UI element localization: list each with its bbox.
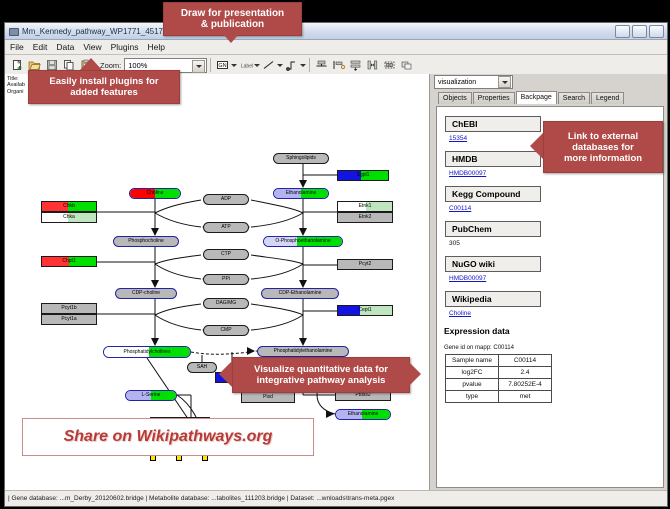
- db-link-wikipedia[interactable]: Choline: [449, 310, 663, 317]
- node-label: Pisd: [263, 395, 273, 400]
- callout-visualize-arrow: [219, 361, 232, 387]
- expression-table: Sample name C00114 log2FC 2.4 pvalue 7.8…: [445, 354, 552, 403]
- svg-text:Label: Label: [241, 64, 253, 70]
- callout-draw-arrow: [222, 33, 240, 43]
- expr-value: 2.4: [499, 367, 552, 379]
- node-ppi[interactable]: PPi: [203, 274, 249, 285]
- zoom-label: Zoom:: [100, 61, 121, 70]
- node-sah[interactable]: SAH: [187, 362, 217, 373]
- toolbar-separator: [309, 58, 310, 72]
- status-text: | Gene database: ...m_Derby_20120602.bri…: [8, 495, 394, 502]
- expr-key: pvalue: [446, 379, 499, 391]
- callout-visualize: Visualize quantitative data for integrat…: [232, 357, 410, 393]
- distribute-icon[interactable]: [364, 57, 381, 73]
- visualization-select[interactable]: visualization: [434, 75, 513, 89]
- callout-plugins: Easily install plugins for added feature…: [28, 70, 180, 104]
- menu-data[interactable]: Data: [56, 42, 74, 52]
- node-label: Etnk2: [359, 215, 372, 220]
- node-ctp[interactable]: CTP: [203, 249, 249, 260]
- menu-edit[interactable]: Edit: [33, 42, 48, 52]
- callout-draw: Draw for presentation & publication: [163, 2, 302, 36]
- node-choline-top[interactable]: Choline: [129, 188, 181, 199]
- node-label: Ptdss2: [355, 393, 370, 398]
- db-name-wikipedia: Wikipedia: [445, 291, 541, 307]
- node-label: Chkb: [63, 204, 75, 209]
- db-value-pubchem: 305: [449, 240, 663, 247]
- app-icon: [8, 26, 18, 36]
- datanode-icon[interactable]: GN: [214, 57, 231, 73]
- callout-visualize-arrow-right: [408, 361, 421, 387]
- menu-view[interactable]: View: [83, 42, 101, 52]
- node-label: Chka: [63, 215, 75, 220]
- node-dag-mg[interactable]: DAG/MG: [203, 298, 249, 309]
- node-label: PPi: [222, 277, 230, 282]
- node-l-serine-left[interactable]: L-Serine: [125, 390, 177, 401]
- callout-links-line1: Link to external: [568, 131, 638, 142]
- gene-chkb[interactable]: Chkb: [41, 201, 97, 212]
- toolbar-separator: [210, 58, 211, 72]
- datanode-dropdown[interactable]: GN: [214, 57, 237, 73]
- gene-sgpl1[interactable]: Sgpl1: [337, 170, 389, 181]
- callout-share-text: Share on Wikipathways.org: [64, 428, 273, 446]
- expr-key: log2FC: [446, 367, 499, 379]
- callout-plugins-arrow: [80, 58, 102, 70]
- line-dropdown[interactable]: [260, 57, 283, 73]
- label-icon[interactable]: Label: [237, 57, 254, 73]
- node-label: DAG/MG: [216, 301, 236, 306]
- menu-plugins[interactable]: Plugins: [111, 42, 139, 52]
- gene-etnk1[interactable]: Etnk1: [337, 201, 393, 212]
- chevron-down-icon[interactable]: [300, 64, 306, 67]
- db-link-kegg[interactable]: C00114: [449, 205, 663, 212]
- menu-help[interactable]: Help: [148, 42, 165, 52]
- node-phosphocholine[interactable]: Phosphocholine: [113, 236, 179, 247]
- expr-value: C00114: [499, 355, 552, 367]
- tab-backpage[interactable]: Backpage: [516, 91, 557, 104]
- gene-chpt1[interactable]: Chpt1: [41, 256, 97, 267]
- tab-properties[interactable]: Properties: [473, 92, 515, 104]
- node-label: Ethanolamine: [348, 412, 379, 417]
- node-label: Phosphocholine: [128, 239, 164, 244]
- gene-chka[interactable]: Chka: [41, 212, 97, 223]
- db-block-pubchem: PubChem 305: [445, 219, 663, 247]
- db-block-wikipedia: Wikipedia Choline: [445, 289, 663, 317]
- tab-search[interactable]: Search: [558, 92, 590, 104]
- callout-visualize-line1: Visualize quantitative data for: [254, 364, 388, 375]
- node-label: Ethanolamine: [286, 191, 317, 196]
- callout-draw-line2: & publication: [201, 19, 264, 30]
- group-icon[interactable]: [381, 57, 398, 73]
- callout-draw-line1: Draw for presentation: [181, 8, 284, 19]
- align-left-icon[interactable]: [330, 57, 347, 73]
- node-label: CDP-choline: [132, 291, 160, 296]
- svg-text:GN: GN: [219, 63, 227, 69]
- panel-tabs: Objects Properties Backpage Search Legen…: [430, 90, 667, 104]
- callout-visualize-line2: integrative pathway analysis: [257, 375, 386, 386]
- db-block-nugowiki: NuGO wiki HMDB00097: [445, 254, 663, 282]
- node-label: Cept1: [358, 308, 371, 313]
- db-link-nugowiki[interactable]: HMDB00097: [449, 275, 663, 282]
- node-label: Etnk1: [359, 204, 372, 209]
- node-label: Chpt1: [62, 259, 75, 264]
- align-center-icon[interactable]: [313, 57, 330, 73]
- node-label: SAH: [197, 365, 207, 370]
- window-controls: [615, 25, 664, 38]
- node-label: Phosphatidylcholines: [124, 350, 171, 355]
- node-atp[interactable]: ATP: [203, 222, 249, 233]
- node-phosphatidylcholines[interactable]: Phosphatidylcholines: [103, 346, 191, 358]
- node-label: CDP-Ethanolamine: [279, 291, 322, 296]
- tab-objects[interactable]: Objects: [438, 92, 472, 104]
- table-row: type met: [446, 391, 552, 403]
- screenshot-root: Mm_Kennedy_pathway_WP1771_45176.gpml Fil…: [0, 0, 670, 509]
- node-ethanolamine-right[interactable]: Ethanolamine: [335, 409, 391, 420]
- new-icon[interactable]: [9, 57, 26, 73]
- callout-plugins-line1: Easily install plugins for: [49, 76, 158, 87]
- table-row: Sample name C00114: [446, 355, 552, 367]
- callout-plugins-line2: added features: [70, 87, 138, 98]
- interaction-dropdown[interactable]: [283, 57, 306, 73]
- db-block-kegg: Kegg Compound C00114: [445, 184, 663, 212]
- node-label: Pcyt1a: [61, 317, 76, 322]
- zoom-value: 100%: [128, 61, 147, 70]
- gene-pcyt1a[interactable]: Pcyt1a: [41, 314, 97, 325]
- expr-value: 7.80252E-4: [499, 379, 552, 391]
- callout-links: Link to external databases for more info…: [543, 121, 663, 173]
- db-name-nugowiki: NuGO wiki: [445, 256, 541, 272]
- menu-bar: File Edit Data View Plugins Help: [5, 40, 667, 55]
- node-label: Pcyt2: [359, 262, 372, 267]
- db-name-chebi: ChEBI: [445, 116, 541, 132]
- node-label: CMP: [220, 328, 231, 333]
- node-phosphatidylethanolamine[interactable]: Phosphatidylethanolamine: [257, 346, 349, 357]
- chevron-down-icon[interactable]: [192, 60, 205, 73]
- node-cdp-ethanolamine[interactable]: CDP-Ethanolamine: [261, 288, 339, 299]
- node-label: ATP: [221, 225, 230, 230]
- table-row: pvalue 7.80252E-4: [446, 379, 552, 391]
- callout-links-line2: databases for: [572, 142, 634, 153]
- table-row: log2FC 2.4: [446, 367, 552, 379]
- gene-pcyt1b[interactable]: Pcyt1b: [41, 303, 97, 314]
- close-button[interactable]: [649, 25, 664, 38]
- db-name-kegg: Kegg Compound: [445, 186, 541, 202]
- stack-icon[interactable]: [347, 57, 364, 73]
- callout-links-arrow: [530, 133, 543, 159]
- node-label: O-Phosphoethanolamine: [275, 239, 330, 244]
- expr-key: Sample name: [446, 355, 499, 367]
- gene-pisd[interactable]: Pisd: [241, 392, 295, 403]
- callout-share: Share on Wikipathways.org: [22, 418, 314, 456]
- node-label: Sgpl1: [357, 173, 370, 178]
- node-label: Phosphatidylethanolamine: [274, 349, 333, 354]
- node-cmp[interactable]: CMP: [203, 325, 249, 336]
- title-bar: Mm_Kennedy_pathway_WP1771_45176.gpml: [5, 23, 667, 40]
- node-cdp-choline[interactable]: CDP-choline: [115, 288, 177, 299]
- node-adp[interactable]: ADP: [203, 194, 249, 205]
- menu-file[interactable]: File: [10, 42, 24, 52]
- node-label: CTP: [221, 252, 231, 257]
- status-bar: | Gene database: ...m_Derby_20120602.bri…: [5, 490, 667, 506]
- node-label: Sphingolipids: [286, 156, 316, 161]
- gene-pcyt2[interactable]: Pcyt2: [337, 259, 393, 270]
- expr-value: met: [499, 391, 552, 403]
- node-ethanolamine-top[interactable]: Ethanolamine: [273, 188, 329, 199]
- node-label: ADP: [221, 197, 231, 202]
- gene-id-on-mapp: Gene id on mapp: C00114: [444, 345, 663, 351]
- callout-links-line3: more information: [564, 153, 642, 164]
- node-label: L-Serine: [142, 393, 161, 398]
- tab-legend[interactable]: Legend: [591, 92, 624, 104]
- expression-data-heading: Expression data: [444, 326, 663, 336]
- minimize-button[interactable]: [615, 25, 630, 38]
- node-label: Choline: [147, 191, 164, 196]
- interaction-icon[interactable]: [283, 57, 300, 73]
- expr-key: type: [446, 391, 499, 403]
- gene-cept1[interactable]: Cept1: [337, 305, 393, 316]
- gene-etnk2[interactable]: Etnk2: [337, 212, 393, 223]
- db-name-hmdb: HMDB: [445, 151, 541, 167]
- visualization-row: visualization: [430, 74, 667, 90]
- chevron-down-icon[interactable]: [498, 76, 511, 88]
- label-dropdown[interactable]: Label: [237, 57, 260, 73]
- db-name-pubchem: PubChem: [445, 221, 541, 237]
- node-o-phosphoethanolamine[interactable]: O-Phosphoethanolamine: [263, 236, 343, 247]
- node-label: Pcyt1b: [61, 306, 76, 311]
- node-sphingolipids[interactable]: Sphingolipids: [273, 153, 329, 164]
- maximize-button[interactable]: [632, 25, 647, 38]
- visualization-value: visualization: [438, 79, 476, 86]
- line-icon[interactable]: [260, 57, 277, 73]
- order-icon[interactable]: [398, 57, 415, 73]
